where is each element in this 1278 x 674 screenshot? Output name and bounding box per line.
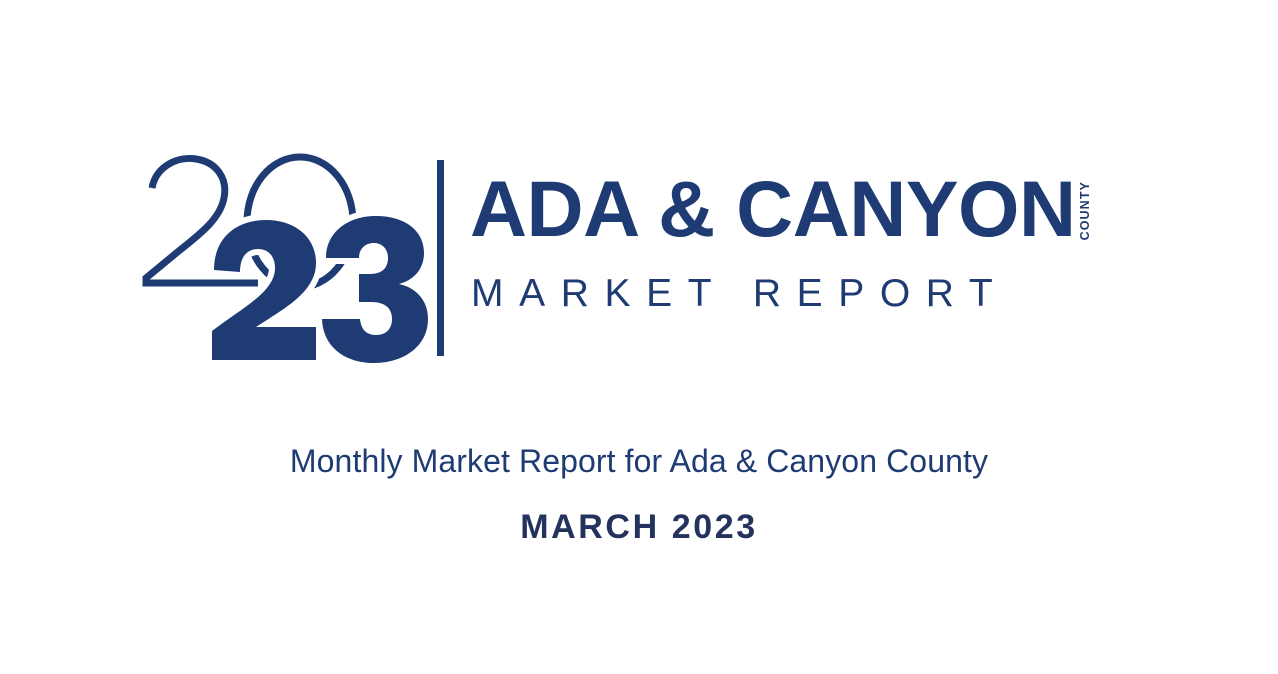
wordmark-subtitle: MARKET REPORT	[471, 272, 1008, 316]
brand-logo-lockup: ADA & CANYON COUNTY MARKET REPORT	[0, 150, 1278, 365]
wordmark-title: ADA & CANYON	[470, 178, 1076, 240]
cover-subtitle: Monthly Market Report for Ada & Canyon C…	[0, 443, 1278, 480]
year-monogram-front-23	[212, 216, 428, 363]
report-cover-page: ADA & CANYON COUNTY MARKET REPORT Monthl…	[0, 0, 1278, 674]
year-monogram-2023	[140, 150, 430, 365]
cover-report-date: MARCH 2023	[0, 508, 1278, 547]
wordmark-primary-row: ADA & CANYON COUNTY	[470, 178, 1091, 240]
wordmark-county-superscript: COUNTY	[1079, 181, 1092, 240]
brand-wordmark: ADA & CANYON COUNTY MARKET REPORT	[470, 150, 1150, 365]
logo-divider-rule	[437, 160, 444, 356]
